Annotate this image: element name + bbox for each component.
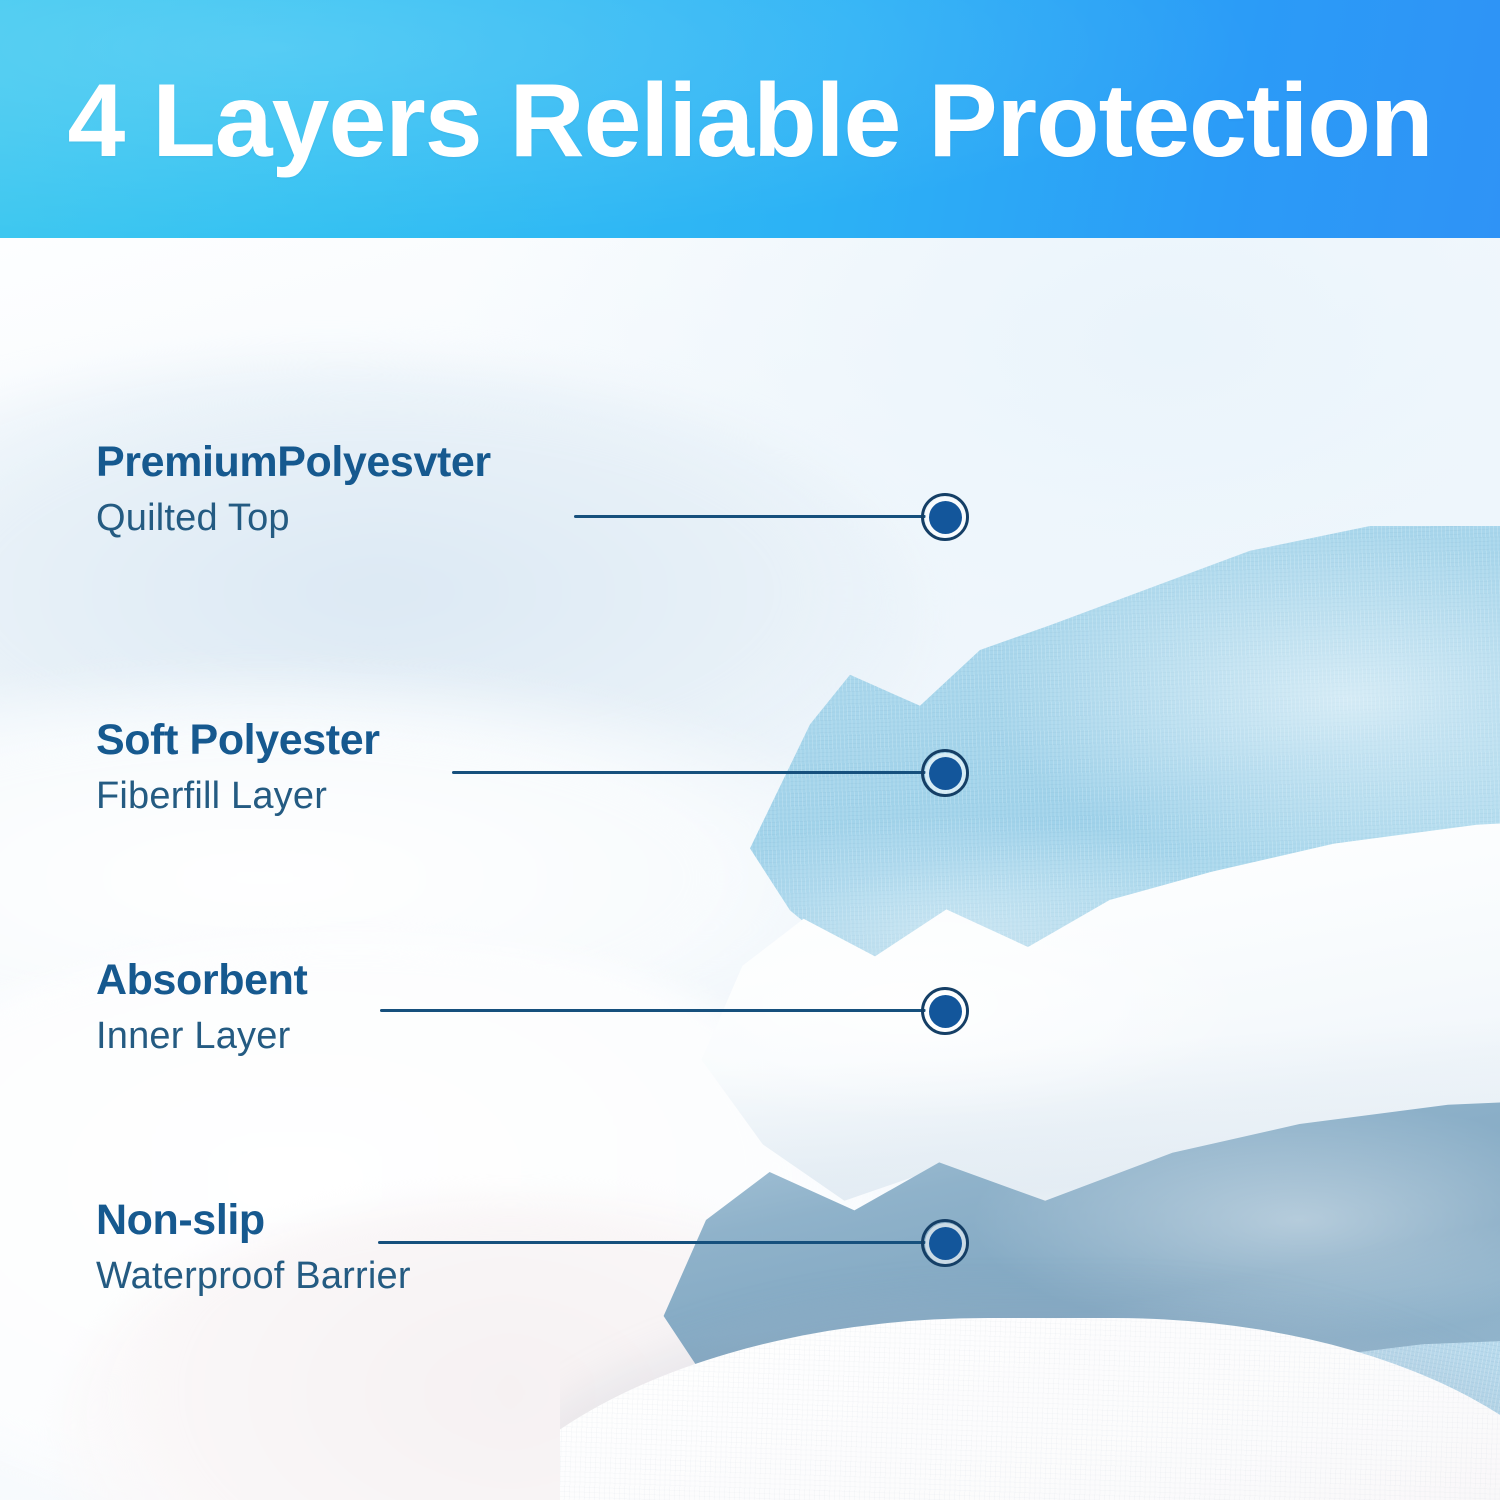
- header-banner: 4 Layers Reliable Protection: [0, 0, 1500, 238]
- layer-marker-4[interactable]: [921, 1219, 969, 1267]
- callout-layer-2: Soft Polyester Fiberfill Layer: [96, 718, 380, 817]
- leader-line-2: [452, 771, 926, 774]
- leader-line-1: [574, 515, 926, 518]
- leader-line-3: [380, 1009, 926, 1012]
- product-infographic: 4 Layers Reliable Protection: [0, 0, 1500, 1500]
- callout-layer-4: Non-slip Waterproof Barrier: [96, 1198, 411, 1297]
- leader-line-4: [378, 1241, 926, 1244]
- fabric-layer-stack: [560, 476, 1500, 1500]
- callout-title-4: Non-slip: [96, 1198, 411, 1243]
- callout-title-1: PremiumPolyesvter: [96, 440, 491, 485]
- callout-subtitle-4: Waterproof Barrier: [96, 1257, 411, 1297]
- callout-layer-1: PremiumPolyesvter Quilted Top: [96, 440, 491, 539]
- layer-marker-3[interactable]: [921, 987, 969, 1035]
- background-scene: [0, 238, 1500, 1500]
- callout-title-3: Absorbent: [96, 958, 307, 1003]
- callout-subtitle-1: Quilted Top: [96, 499, 491, 539]
- callout-subtitle-3: Inner Layer: [96, 1017, 307, 1057]
- layer-marker-1[interactable]: [921, 493, 969, 541]
- callout-layer-3: Absorbent Inner Layer: [96, 958, 307, 1057]
- callout-subtitle-2: Fiberfill Layer: [96, 777, 380, 817]
- layer-marker-2[interactable]: [921, 749, 969, 797]
- banner-title: 4 Layers Reliable Protection: [68, 69, 1433, 173]
- callout-title-2: Soft Polyester: [96, 718, 380, 763]
